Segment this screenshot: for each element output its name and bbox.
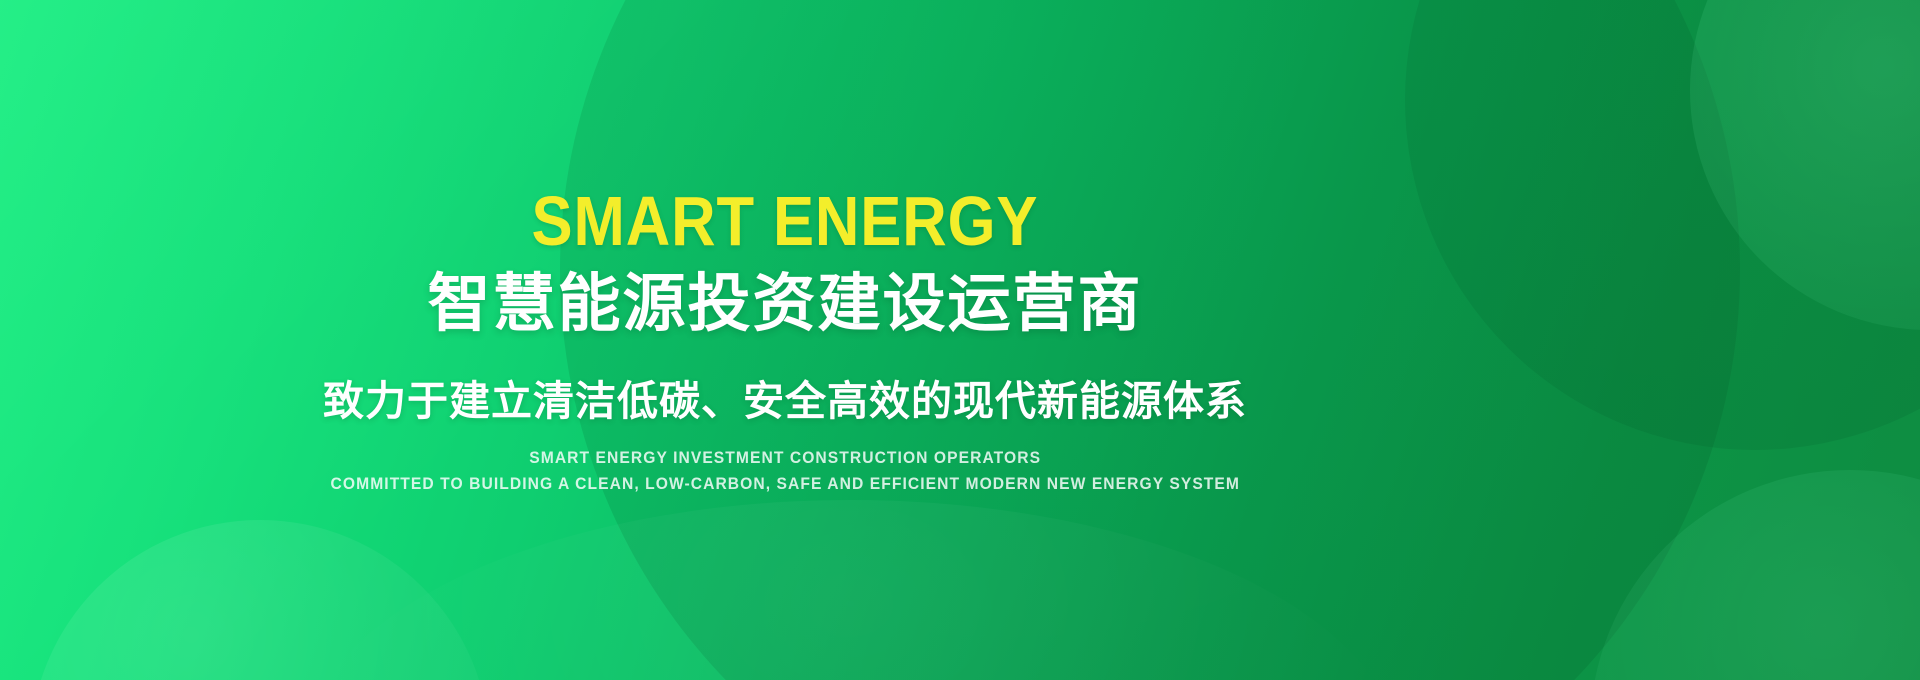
banner-subheadline-chinese: 致力于建立清洁低碳、安全高效的现代新能源体系 — [323, 378, 1247, 425]
hero-banner: SMART ENERGY 智慧能源投资建设运营商 致力于建立清洁低碳、安全高效的… — [0, 0, 1920, 680]
banner-eyebrow-title: SMART ENERGY — [532, 186, 1039, 256]
banner-english-line-1: SMART ENERGY INVESTMENT CONSTRUCTION OPE… — [529, 447, 1041, 468]
banner-english-line-2: COMMITTED TO BUILDING A CLEAN, LOW-CARBO… — [330, 473, 1239, 494]
banner-content: SMART ENERGY 智慧能源投资建设运营商 致力于建立清洁低碳、安全高效的… — [0, 0, 1570, 680]
banner-headline-chinese: 智慧能源投资建设运营商 — [428, 270, 1143, 338]
decorative-blob-bottom-right — [1590, 470, 1920, 680]
banner-english-block: SMART ENERGY INVESTMENT CONSTRUCTION OPE… — [291, 447, 1280, 495]
decorative-blob-top-right — [1690, 0, 1920, 330]
